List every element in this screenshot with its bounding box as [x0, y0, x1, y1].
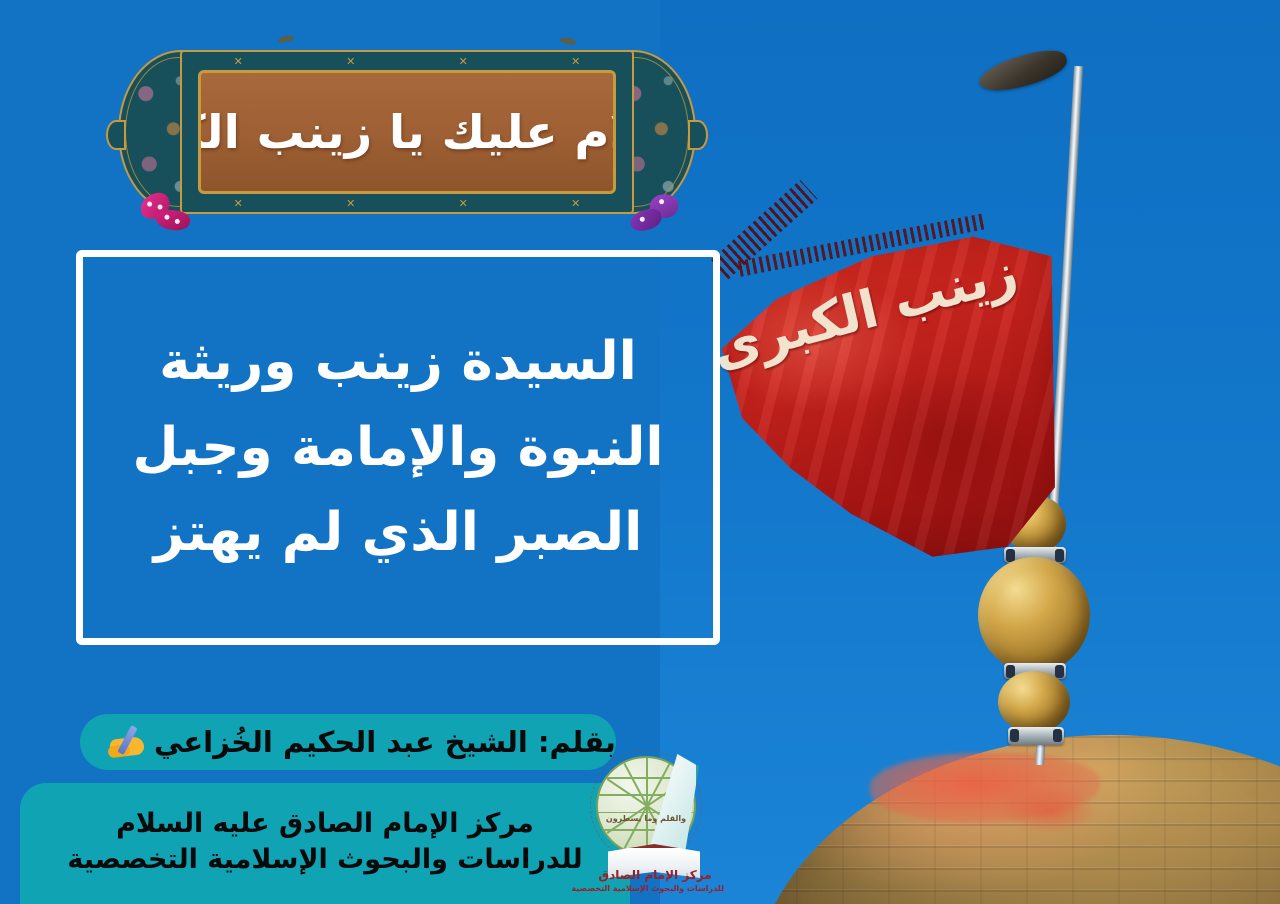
author-name: بقلم: الشيخ عبد الحكيم الخُزاعي — [154, 725, 616, 759]
x-motif-icon: ✕ — [459, 56, 468, 67]
bird-ornament-right — [560, 37, 577, 46]
finial-sphere-main — [978, 557, 1090, 673]
banner-endcap-nub-right — [688, 120, 708, 150]
finial-collar-base — [1008, 727, 1064, 745]
x-motif-icon: ✕ — [571, 56, 580, 67]
banner-endcap-nub-left — [106, 120, 126, 150]
x-motif-icon: ✕ — [571, 198, 580, 209]
x-motif-icon: ✕ — [234, 198, 243, 209]
banner-calligraphy-text: السلام عليك يا زينب الكبرى — [198, 105, 616, 159]
title-line-1: السيدة زينب وريثة — [109, 319, 687, 405]
banner-x-motifs-bottom: ✕ ✕ ✕ ✕ — [182, 196, 632, 210]
shrine-photo: زينب الكبرى — [660, 0, 1280, 904]
banner-strip-top: ✕ ✕ ✕ ✕ — [182, 54, 632, 68]
calligraphy-banner: ✕ ✕ ✕ ✕ ✕ ✕ ✕ ✕ السلام عليك يا زينب الكب… — [118, 44, 696, 220]
x-motif-icon: ✕ — [346, 56, 355, 67]
logo-subtitle: للدراسات والبحوث الإسلامية التخصصية — [586, 884, 724, 893]
center-logo: والقلم وما يسطرون مركز الإمام الصادق للد… — [586, 748, 724, 904]
banner-frame: ✕ ✕ ✕ ✕ ✕ ✕ ✕ ✕ السلام عليك يا زينب الكب… — [180, 50, 634, 214]
organization-footer: مركز الإمام الصادق عليه السلام للدراسات … — [20, 783, 630, 904]
banner-strip-bottom: ✕ ✕ ✕ ✕ — [182, 196, 632, 210]
title-line-2: النبوة والإمامة وجبل — [109, 405, 687, 491]
red-flag: زينب الكبرى — [715, 230, 1055, 560]
bird-ornament-left — [278, 34, 295, 43]
x-motif-icon: ✕ — [346, 198, 355, 209]
logo-ring-text: والقلم وما يسطرون — [594, 814, 698, 823]
writing-hand-icon — [106, 725, 148, 759]
x-motif-icon: ✕ — [459, 198, 468, 209]
poster-canvas: زينب الكبرى ✕ ✕ ✕ ✕ ✕ — [0, 0, 1280, 904]
title-line-3: الصبر الذي لم يهتز — [109, 490, 687, 576]
logo-name: مركز الإمام الصادق — [586, 868, 724, 882]
banner-panel: السلام عليك يا زينب الكبرى — [198, 70, 616, 194]
banner-x-motifs-top: ✕ ✕ ✕ ✕ — [182, 54, 632, 68]
finial-sphere-bottom — [998, 671, 1070, 733]
main-title-box: السيدة زينب وريثة النبوة والإمامة وجبل ا… — [76, 250, 720, 645]
author-bar: بقلم: الشيخ عبد الحكيم الخُزاعي — [80, 714, 616, 770]
footer-line-1: مركز الإمام الصادق عليه السلام — [116, 806, 534, 842]
dome-red-patch-secondary — [1005, 790, 1095, 832]
footer-line-2: للدراسات والبحوث الإسلامية التخصصية — [67, 842, 582, 878]
x-motif-icon: ✕ — [234, 56, 243, 67]
